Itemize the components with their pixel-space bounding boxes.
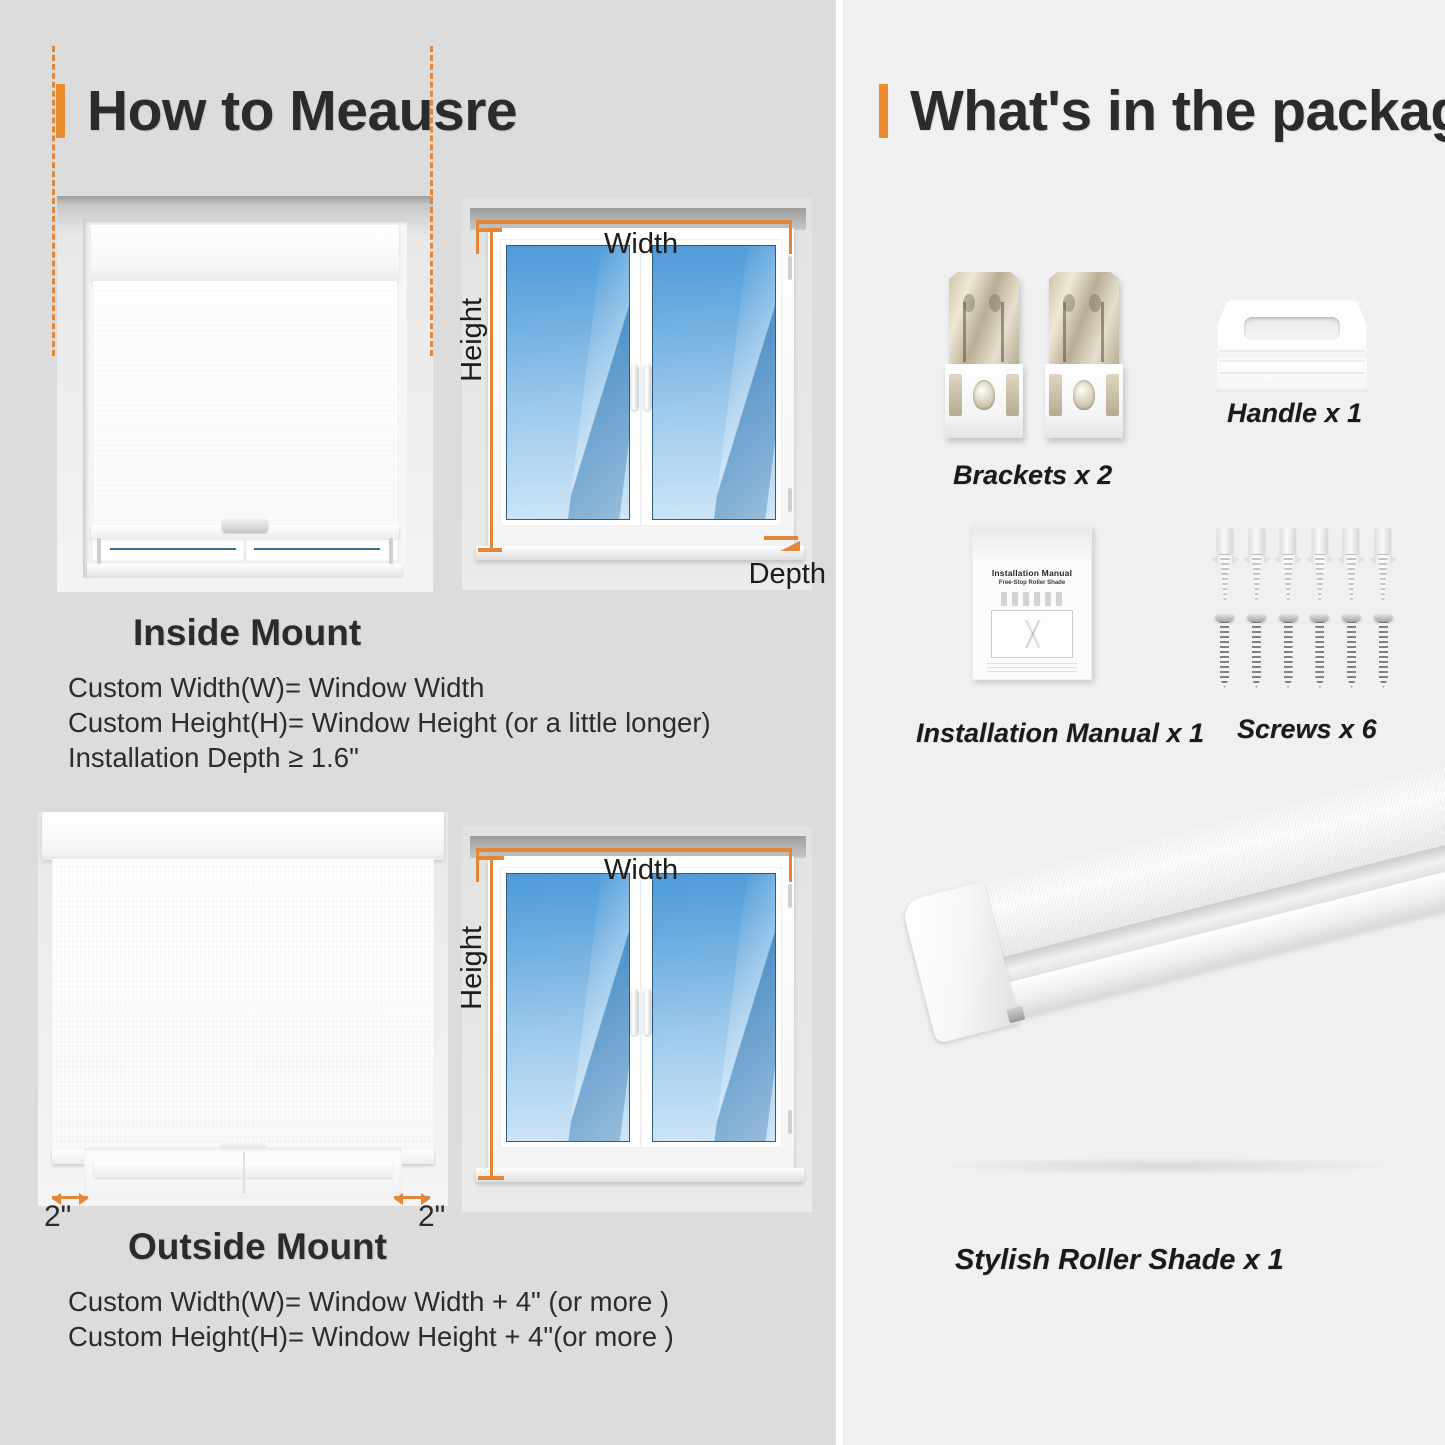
width-dimension-line xyxy=(476,848,792,852)
window-handles-icon xyxy=(631,989,652,1035)
window-handles-icon xyxy=(631,364,652,410)
outside-line-1: Custom Width(W)= Window Width + 4" (or m… xyxy=(68,1284,674,1319)
glass-pane-icon xyxy=(110,548,236,550)
bracket-slot xyxy=(1106,374,1119,416)
window-pane-right xyxy=(641,867,782,1148)
panel-heading-package: What's in the package xyxy=(879,78,1445,144)
label-roller-shade: Stylish Roller Shade x 1 xyxy=(955,1244,1284,1277)
height-tick-top xyxy=(478,228,502,232)
package-item-handle xyxy=(1217,300,1367,392)
width-label: Width xyxy=(604,854,678,887)
height-tick-bottom xyxy=(478,548,502,552)
product-shadow xyxy=(932,1157,1402,1175)
handle-icon xyxy=(1217,300,1367,392)
screw-icon xyxy=(1310,612,1329,688)
bracket-rib xyxy=(1101,302,1104,362)
infographic-root: How to Meausre xyxy=(0,0,1445,1445)
window-behind-shade xyxy=(84,1148,402,1198)
height-tick-bottom xyxy=(478,1176,504,1180)
overhang-label-right: 2" xyxy=(418,1200,445,1234)
label-screws: Screws x 6 xyxy=(1237,714,1377,745)
inside-line-3: Installation Depth ≥ 1.6" xyxy=(68,740,711,775)
window-sash-left xyxy=(91,539,245,562)
window-pane-right xyxy=(641,239,782,526)
bracket-keyhole xyxy=(1073,380,1095,410)
hinge-icon xyxy=(389,538,393,564)
outside-mount-instructions: Custom Width(W)= Window Width + 4" (or m… xyxy=(68,1284,674,1354)
package-item-manual: Installation Manual Free-Stop Roller Sha… xyxy=(972,525,1092,680)
hinge-icon xyxy=(788,488,792,512)
wall-anchor-icon xyxy=(1215,528,1235,600)
panel-divider xyxy=(836,0,843,1445)
manual-cover-title: Installation Manual xyxy=(973,568,1091,578)
glass-pane-icon xyxy=(254,548,380,550)
inside-mount-shade-illustration xyxy=(57,196,433,592)
height-label: Height xyxy=(456,298,489,382)
screw-icon xyxy=(1279,612,1298,688)
manual-cover-figure xyxy=(991,610,1073,658)
manual-cover-text-lines xyxy=(1001,592,1063,606)
how-to-measure-panel: How to Meausre xyxy=(0,0,836,1445)
lintel-icon xyxy=(470,208,806,230)
package-item-screws xyxy=(1215,528,1393,688)
hinge-icon xyxy=(788,1110,792,1134)
glass-pane-icon xyxy=(506,873,630,1142)
outside-line-2: Custom Height(H)= Window Height + 4"(or … xyxy=(68,1319,674,1354)
roller-pin xyxy=(1006,1006,1025,1023)
label-handle: Handle x 1 xyxy=(1227,398,1362,429)
overhang-dimension-right xyxy=(394,1196,430,1199)
shade-fabric-icon xyxy=(52,859,434,1157)
screw-icon xyxy=(1374,612,1393,688)
wall-anchor-icon xyxy=(1310,528,1330,600)
bracket-base-plate xyxy=(1045,364,1123,438)
depth-dimension-line xyxy=(764,536,798,540)
bracket-slot xyxy=(949,374,962,416)
screw-icon xyxy=(1247,612,1266,688)
manual-icon: Installation Manual Free-Stop Roller Sha… xyxy=(972,525,1092,680)
bracket-icon xyxy=(1045,272,1123,438)
hinge-icon xyxy=(788,256,792,280)
overhang-guide-right xyxy=(430,46,433,356)
manual-cover-subtitle: Free-Stop Roller Shade xyxy=(973,580,1091,586)
bracket-slot xyxy=(1006,374,1019,416)
panel-heading-measure: How to Meausre xyxy=(56,78,517,144)
bracket-rib xyxy=(1063,302,1066,362)
depth-label: Depth xyxy=(749,558,826,591)
package-item-brackets xyxy=(945,272,1125,438)
screw-icon xyxy=(1342,612,1361,688)
overhang-label-left: 2" xyxy=(44,1200,71,1234)
width-tick-left xyxy=(476,848,479,882)
screw-row xyxy=(1215,612,1393,688)
valance-icon xyxy=(91,225,399,281)
inside-line-1: Custom Width(W)= Window Width xyxy=(68,670,711,705)
pull-handle-icon xyxy=(222,519,268,532)
window-pane-left xyxy=(500,867,641,1148)
accent-bar-icon xyxy=(56,84,65,138)
package-contents-panel: What's in the package xyxy=(843,0,1445,1445)
width-label: Width xyxy=(604,228,678,261)
bracket-keyhole xyxy=(973,380,995,410)
wall-anchor-icon xyxy=(1278,528,1298,600)
inside-mount-measure-diagram: Width Height Depth xyxy=(462,198,812,590)
handle-ridge xyxy=(1219,360,1365,362)
glass-pane-icon xyxy=(652,873,776,1142)
wall-anchor-icon xyxy=(1341,528,1361,600)
inside-line-2: Custom Height(H)= Window Height (or a li… xyxy=(68,705,711,740)
width-tick-left xyxy=(476,220,479,254)
height-label: Height xyxy=(456,926,489,1010)
window-sash-row xyxy=(91,539,399,562)
shade-fabric-icon xyxy=(93,281,397,526)
hinge-icon xyxy=(97,538,101,564)
handle-ridge xyxy=(1219,350,1365,352)
bracket-rib xyxy=(963,302,966,362)
width-tick-right xyxy=(789,848,792,882)
hinge-icon xyxy=(788,884,792,908)
overhang-dimension-left xyxy=(52,1196,88,1199)
window-frame-icon xyxy=(488,228,794,546)
bracket-slot xyxy=(1049,374,1062,416)
label-brackets: Brackets x 2 xyxy=(953,460,1112,491)
window-recess xyxy=(83,219,407,578)
inside-mount-instructions: Custom Width(W)= Window Width Custom Hei… xyxy=(68,670,711,775)
valance-icon xyxy=(42,812,444,860)
height-dimension-line xyxy=(490,856,493,1178)
manual-cover-footer-text xyxy=(987,660,1077,672)
manual-cover-band xyxy=(973,526,1091,560)
width-dimension-line xyxy=(476,220,792,224)
window-sash-right xyxy=(245,539,399,562)
wall-anchor-icon xyxy=(1247,528,1267,600)
bracket-base-plate xyxy=(945,364,1023,438)
window-sill-icon xyxy=(87,564,403,576)
label-manual: Installation Manual x 1 xyxy=(916,718,1204,749)
heading-text: What's in the package xyxy=(910,78,1445,144)
handle-ridge xyxy=(1219,372,1365,374)
height-tick-top xyxy=(478,856,504,860)
outside-mount-shade-illustration xyxy=(38,812,448,1206)
bracket-icon xyxy=(945,272,1023,438)
screw-icon xyxy=(1215,612,1234,688)
glass-pane-icon xyxy=(652,245,776,520)
accent-bar-icon xyxy=(879,84,888,138)
outside-mount-title: Outside Mount xyxy=(128,1226,387,1268)
wall-anchor-icon xyxy=(1373,528,1393,600)
window-frame-icon xyxy=(488,856,794,1168)
window-sill-icon xyxy=(476,1168,804,1182)
outside-mount-measure-diagram: Width Height xyxy=(462,826,812,1212)
inside-mount-title: Inside Mount xyxy=(133,612,361,654)
overhang-guide-left xyxy=(52,46,55,356)
roller-shade-icon xyxy=(903,765,1445,1057)
wall-anchor-row xyxy=(1215,528,1393,600)
height-dimension-line xyxy=(490,228,493,550)
heading-text: How to Meausre xyxy=(87,78,517,144)
handle-grip-cutout xyxy=(1244,317,1340,340)
bracket-rib xyxy=(1001,302,1004,362)
window-pane-left xyxy=(500,239,641,526)
width-tick-right xyxy=(789,220,792,254)
glass-pane-icon xyxy=(506,245,630,520)
package-item-roller-shade xyxy=(912,875,1432,1205)
depth-arrow-icon xyxy=(780,541,800,551)
